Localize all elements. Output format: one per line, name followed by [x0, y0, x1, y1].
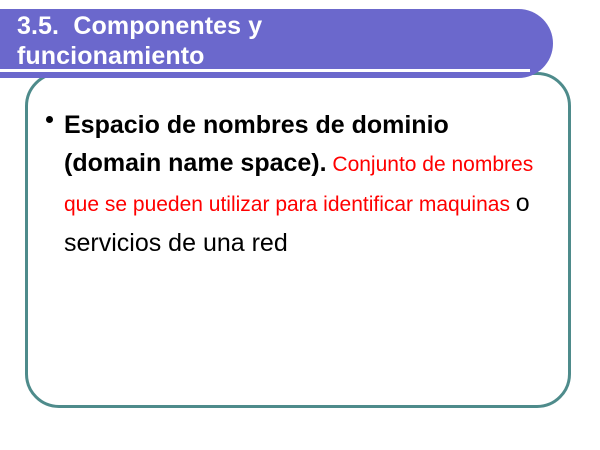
slide-title-banner: 3.5. Componentes y funcionamiento — [0, 9, 553, 78]
bullet-dot-icon — [46, 116, 53, 123]
slide-canvas: 3.5. Componentes y funcionamiento Espaci… — [0, 0, 600, 450]
page-title: 3.5. Componentes y funcionamiento — [17, 11, 537, 71]
slide-body: Espacio de nombres de dominio (domain na… — [44, 106, 544, 262]
bullet-paragraph: Espacio de nombres de dominio (domain na… — [64, 106, 544, 262]
list-item: Espacio de nombres de dominio (domain na… — [44, 106, 544, 262]
title-underline-rule — [0, 69, 530, 72]
